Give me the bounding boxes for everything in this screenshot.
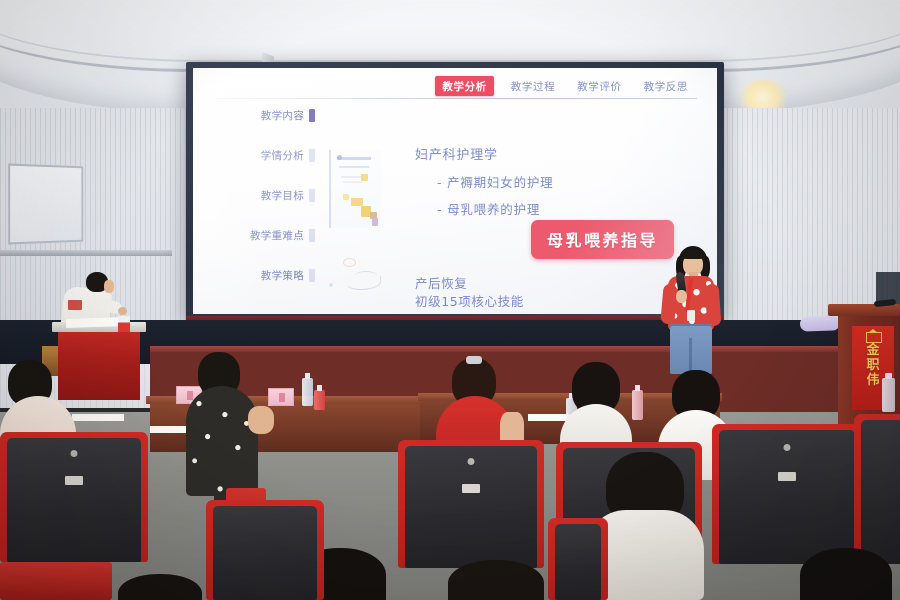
ceiling-arc-inner [0,0,900,62]
course-bullet: - 产褥期妇女的护理 [437,172,553,191]
auditorium-seat-foreground[interactable] [548,518,608,600]
sidebar-item-jiaoxue-neirong[interactable]: 教学内容 [219,108,315,122]
sidebar-item-label: 教学重难点 [250,228,304,243]
thumbnail-line [343,181,363,183]
sidebar-chip-icon [309,269,315,282]
sidebar-item-label: 教学策略 [261,268,304,283]
topic-badge-wrapper: 母乳喂养指导 [531,220,674,259]
sidebar-item-jiaoxue-celue[interactable]: 教学策略 [219,268,315,282]
water-bottle [302,378,313,406]
sidebar-item-jiaoxue-mubiao[interactable]: 教学目标 [219,188,315,202]
thermos-bottle [632,390,643,420]
table-flower-decoration [118,316,130,332]
seat-cushion [213,506,317,600]
tshirt-logo [68,300,82,310]
sidebar-item-label: 学情分析 [261,148,304,163]
note-taker-hand [118,307,127,315]
sidebar-chip-icon [309,189,315,202]
postpartum-illustration-thumbnail [325,252,397,298]
tab-jiaoxue-guocheng[interactable]: 教学过程 [506,77,560,96]
audience-head [448,560,544,600]
skills-line: 初级15项核心技能 [415,293,524,311]
sidebar-item-xueqing-fenxi[interactable]: 学情分析 [219,148,315,162]
course-bullet: - 母乳喂养的护理 [437,199,553,218]
tab-jiaoxue-pingjia[interactable]: 教学评价 [572,77,626,96]
presentation-slide: 教学分析 教学过程 教学评价 教学反思 教学内容 学情分析 [193,68,717,314]
paper-sheet [528,414,570,421]
seat-button-icon [784,444,791,451]
projection-screen: 教学分析 教学过程 教学评价 教学反思 教学内容 学情分析 [193,68,717,314]
illustration-curve-icon [347,276,381,290]
podium-char-jin: 金 [866,344,879,358]
classroom-photo-scene: 教学分析 教学过程 教学评价 教学反思 教学内容 学情分析 [0,0,900,600]
auditorium-seat[interactable] [854,414,900,564]
presenter-hand [676,290,687,303]
recovery-line: 产后恢复 [415,275,524,293]
thumbnail-swatch [361,174,368,181]
podium-water-bottle [882,378,895,412]
sidebar-chip-icon [309,109,315,122]
course-title: 妇产科护理学 [415,144,553,163]
sidebar-chip-icon [309,229,315,242]
sidebar-chip-icon [309,149,315,162]
seat-number-tag [462,484,480,493]
topic-badge: 母乳喂养指导 [531,220,674,259]
slide-header-divider [215,98,697,99]
presenter-id-badge [687,310,695,321]
red-draped-table [58,330,140,400]
podium-char-zhi: 职 [866,359,879,373]
seat-button-icon [468,458,475,465]
sidebar-item-jiaoxue-zhongnandian[interactable]: 教学重难点 [219,228,315,242]
seat-cushion [555,524,601,600]
seat-button-icon [71,450,78,457]
slide-sidebar: 教学内容 学情分析 教学目标 教学重难点 [219,108,315,308]
seat-number-tag [778,472,796,481]
paper-sheet [72,414,124,421]
audience-head [800,548,892,600]
auditorium-seat[interactable] [398,440,544,568]
presenter-arm-right [705,284,722,327]
auditorium-seat[interactable] [0,432,148,562]
wall-rail [0,250,172,256]
presenter-jeans [670,326,712,374]
thumbnail-swatch [351,198,363,206]
projection-screen-frame: 教学分析 教学过程 教学评价 教学反思 教学内容 学情分析 [186,62,724,320]
thumbnail-header-line [337,157,371,160]
tab-jiaoxue-fenxi[interactable]: 教学分析 [435,76,493,96]
illustration-ring-icon [343,258,356,267]
name-card [268,388,294,406]
illustration-dot-icon [329,283,333,287]
tab-jiaoxue-fansi[interactable]: 教学反思 [639,77,693,96]
seat-armrest [0,562,112,600]
sidebar-item-label: 教学内容 [261,108,304,123]
seat-number-tag [65,476,83,485]
seat-cushion [861,420,900,564]
podium-top-surface [828,304,900,316]
sidebar-item-label: 教学目标 [261,188,304,203]
wall-whiteboard [8,164,83,245]
slide-content-bottom: 产后恢复 初级15项核心技能 [415,275,524,311]
slide-nav-tabs: 教学分析 教学过程 教学评价 教学反思 [211,74,703,98]
thumbnail-swatch [343,194,349,200]
podium-char-wei: 伟 [866,374,879,388]
house-logo-icon [866,330,880,341]
auditorium-seat[interactable] [712,424,862,564]
slide-body: 教学内容 学情分析 教学目标 教学重难点 [193,102,717,310]
note-taker-face [104,280,114,293]
audience-hairclip [466,356,482,364]
textbook-cover-thumbnail [329,150,381,228]
thumbnail-line [339,166,369,168]
slide-content-top: 妇产科护理学 - 产褥期妇女的护理 - 母乳喂养的护理 [415,144,553,226]
water-bottle [314,390,325,410]
auditorium-seat-foreground[interactable] [206,500,324,600]
thumbnail-swatch [372,218,378,226]
presenter-bangs [681,250,705,259]
audience-arm [248,406,274,434]
yoga-mat-prop [800,315,840,331]
